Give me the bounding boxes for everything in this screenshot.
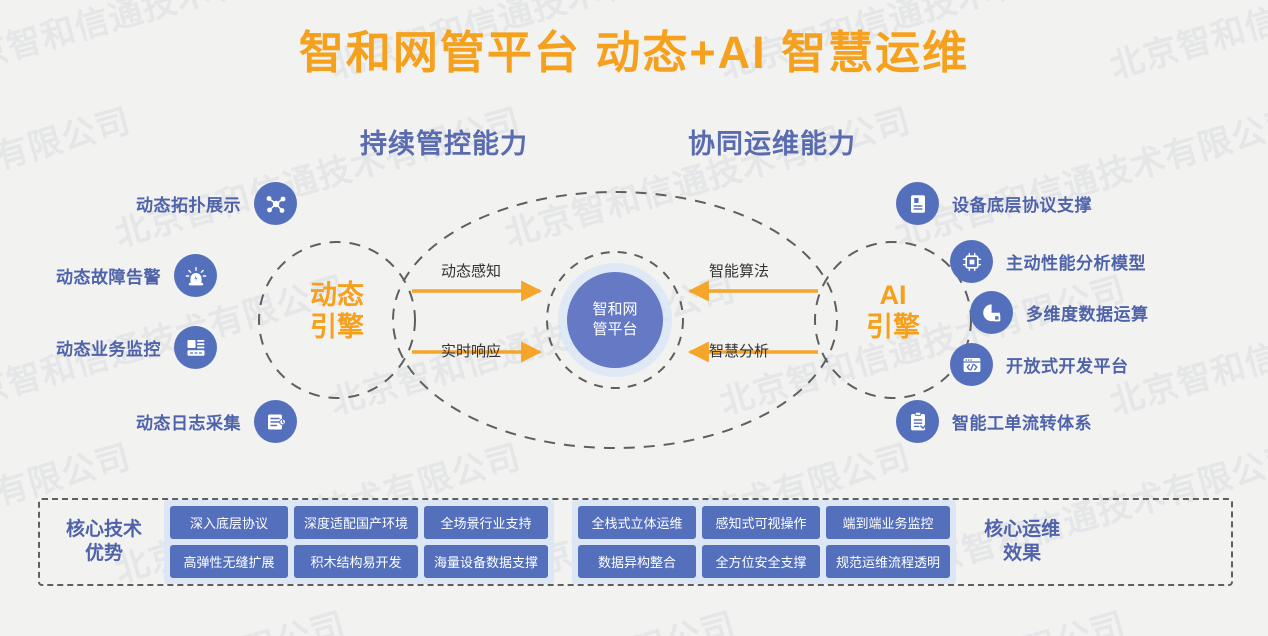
feature-item-smart-ticket-system[interactable]: 智能工单流转体系	[896, 400, 1092, 443]
arrow-label-dynamic-sense: 动态感知	[441, 260, 501, 281]
tag-item[interactable]: 端到端业务监控	[826, 506, 950, 539]
document-protocol-icon	[896, 182, 939, 225]
tag-group-core-technology: 深入底层协议 深度适配国产环境 全场景行业支持 高弹性无缝扩展 积木结构易开发 …	[164, 500, 554, 584]
tag-item[interactable]: 全方位安全支撑	[702, 545, 820, 578]
feature-item-dynamic-business-monitor[interactable]: 动态业务监控	[56, 326, 217, 369]
bottom-title-left-line2: 优势	[66, 542, 142, 566]
feature-item-open-development-platform[interactable]: 开放式开发平台	[950, 343, 1129, 386]
arrow-label-ai-analysis: 智慧分析	[709, 340, 769, 361]
infographic-canvas: 北京智和信通技术有限公司北京智和信通技术有限公司北京智和信通技术有限公司北京智和…	[0, 0, 1268, 636]
feature-label-dynamic-fault-alarm: 动态故障告警	[56, 263, 161, 288]
feature-item-active-performance-model[interactable]: 主动性能分析模型	[950, 240, 1146, 283]
log-list-icon	[254, 400, 297, 443]
arrow-label-ai-algorithm: 智能算法	[709, 260, 769, 281]
tag-item[interactable]: 规范运维流程透明	[826, 545, 950, 578]
ai-engine-line1: AI	[838, 280, 948, 312]
dashboard-monitor-icon	[174, 326, 217, 369]
tag-group-core-operations: 全栈式立体运维 感知式可视操作 端到端业务监控 数据异构整合 全方位安全支撑 规…	[572, 500, 956, 584]
bottom-title-core-operations: 核心运维 效果	[970, 518, 1074, 566]
feature-label-dynamic-log-collection: 动态日志采集	[136, 409, 241, 434]
dynamic-engine-label: 动态 引擎	[272, 280, 402, 344]
ai-engine-label: AI 引擎	[838, 280, 948, 344]
feature-item-dynamic-topology[interactable]: 动态拓扑展示	[136, 182, 297, 225]
bottom-title-right-line2: 效果	[984, 542, 1060, 566]
center-platform-circle: 智和网 管平台	[567, 272, 663, 368]
page-title: 智和网管平台 动态+AI 智慧运维	[0, 28, 1268, 78]
feature-label-dynamic-topology: 动态拓扑展示	[136, 191, 241, 216]
feature-label-open-development-platform: 开放式开发平台	[1006, 352, 1129, 377]
tag-item[interactable]: 积木结构易开发	[294, 545, 418, 578]
bottom-title-right-line1: 核心运维	[984, 518, 1060, 542]
dynamic-engine-line2: 引擎	[272, 312, 402, 344]
tag-item[interactable]: 全场景行业支持	[424, 506, 548, 539]
clipboard-ticket-icon	[896, 400, 939, 443]
tag-item[interactable]: 感知式可视操作	[702, 506, 820, 539]
feature-item-dynamic-fault-alarm[interactable]: 动态故障告警	[56, 254, 217, 297]
pie-data-icon	[970, 291, 1013, 334]
chip-icon	[950, 240, 993, 283]
code-window-icon	[950, 343, 993, 386]
feature-label-multidimensional-data: 多维度数据运算	[1026, 300, 1149, 325]
tag-item[interactable]: 高弹性无缝扩展	[170, 545, 288, 578]
subtitle-right: 协同运维能力	[688, 122, 856, 161]
dynamic-engine-line1: 动态	[272, 280, 402, 312]
bottom-summary-panel: 核心技术 优势 深入底层协议 深度适配国产环境 全场景行业支持 高弹性无缝扩展 …	[38, 498, 1233, 586]
feature-label-active-performance-model: 主动性能分析模型	[1006, 249, 1146, 274]
center-line1: 智和网	[592, 300, 637, 320]
tag-item[interactable]: 深入底层协议	[170, 506, 288, 539]
subtitle-left: 持续管控能力	[360, 122, 528, 161]
feature-label-smart-ticket-system: 智能工单流转体系	[952, 409, 1092, 434]
topology-icon	[254, 182, 297, 225]
tag-item[interactable]: 全栈式立体运维	[578, 506, 696, 539]
arrow-label-realtime-response: 实时响应	[441, 340, 501, 361]
feature-item-device-protocol-support[interactable]: 设备底层协议支撑	[896, 182, 1092, 225]
feature-label-dynamic-business-monitor: 动态业务监控	[56, 335, 161, 360]
ai-engine-line2: 引擎	[838, 312, 948, 344]
bottom-title-left-line1: 核心技术	[66, 518, 142, 542]
feature-item-multidimensional-data[interactable]: 多维度数据运算	[970, 291, 1149, 334]
tag-item[interactable]: 数据异构整合	[578, 545, 696, 578]
bottom-title-core-technology: 核心技术 优势	[52, 518, 156, 566]
tag-item[interactable]: 深度适配国产环境	[294, 506, 418, 539]
center-line2: 管平台	[592, 320, 637, 340]
feature-item-dynamic-log-collection[interactable]: 动态日志采集	[136, 400, 297, 443]
feature-label-device-protocol-support: 设备底层协议支撑	[952, 191, 1092, 216]
alarm-siren-icon	[174, 254, 217, 297]
tag-item[interactable]: 海量设备数据支撑	[424, 545, 548, 578]
